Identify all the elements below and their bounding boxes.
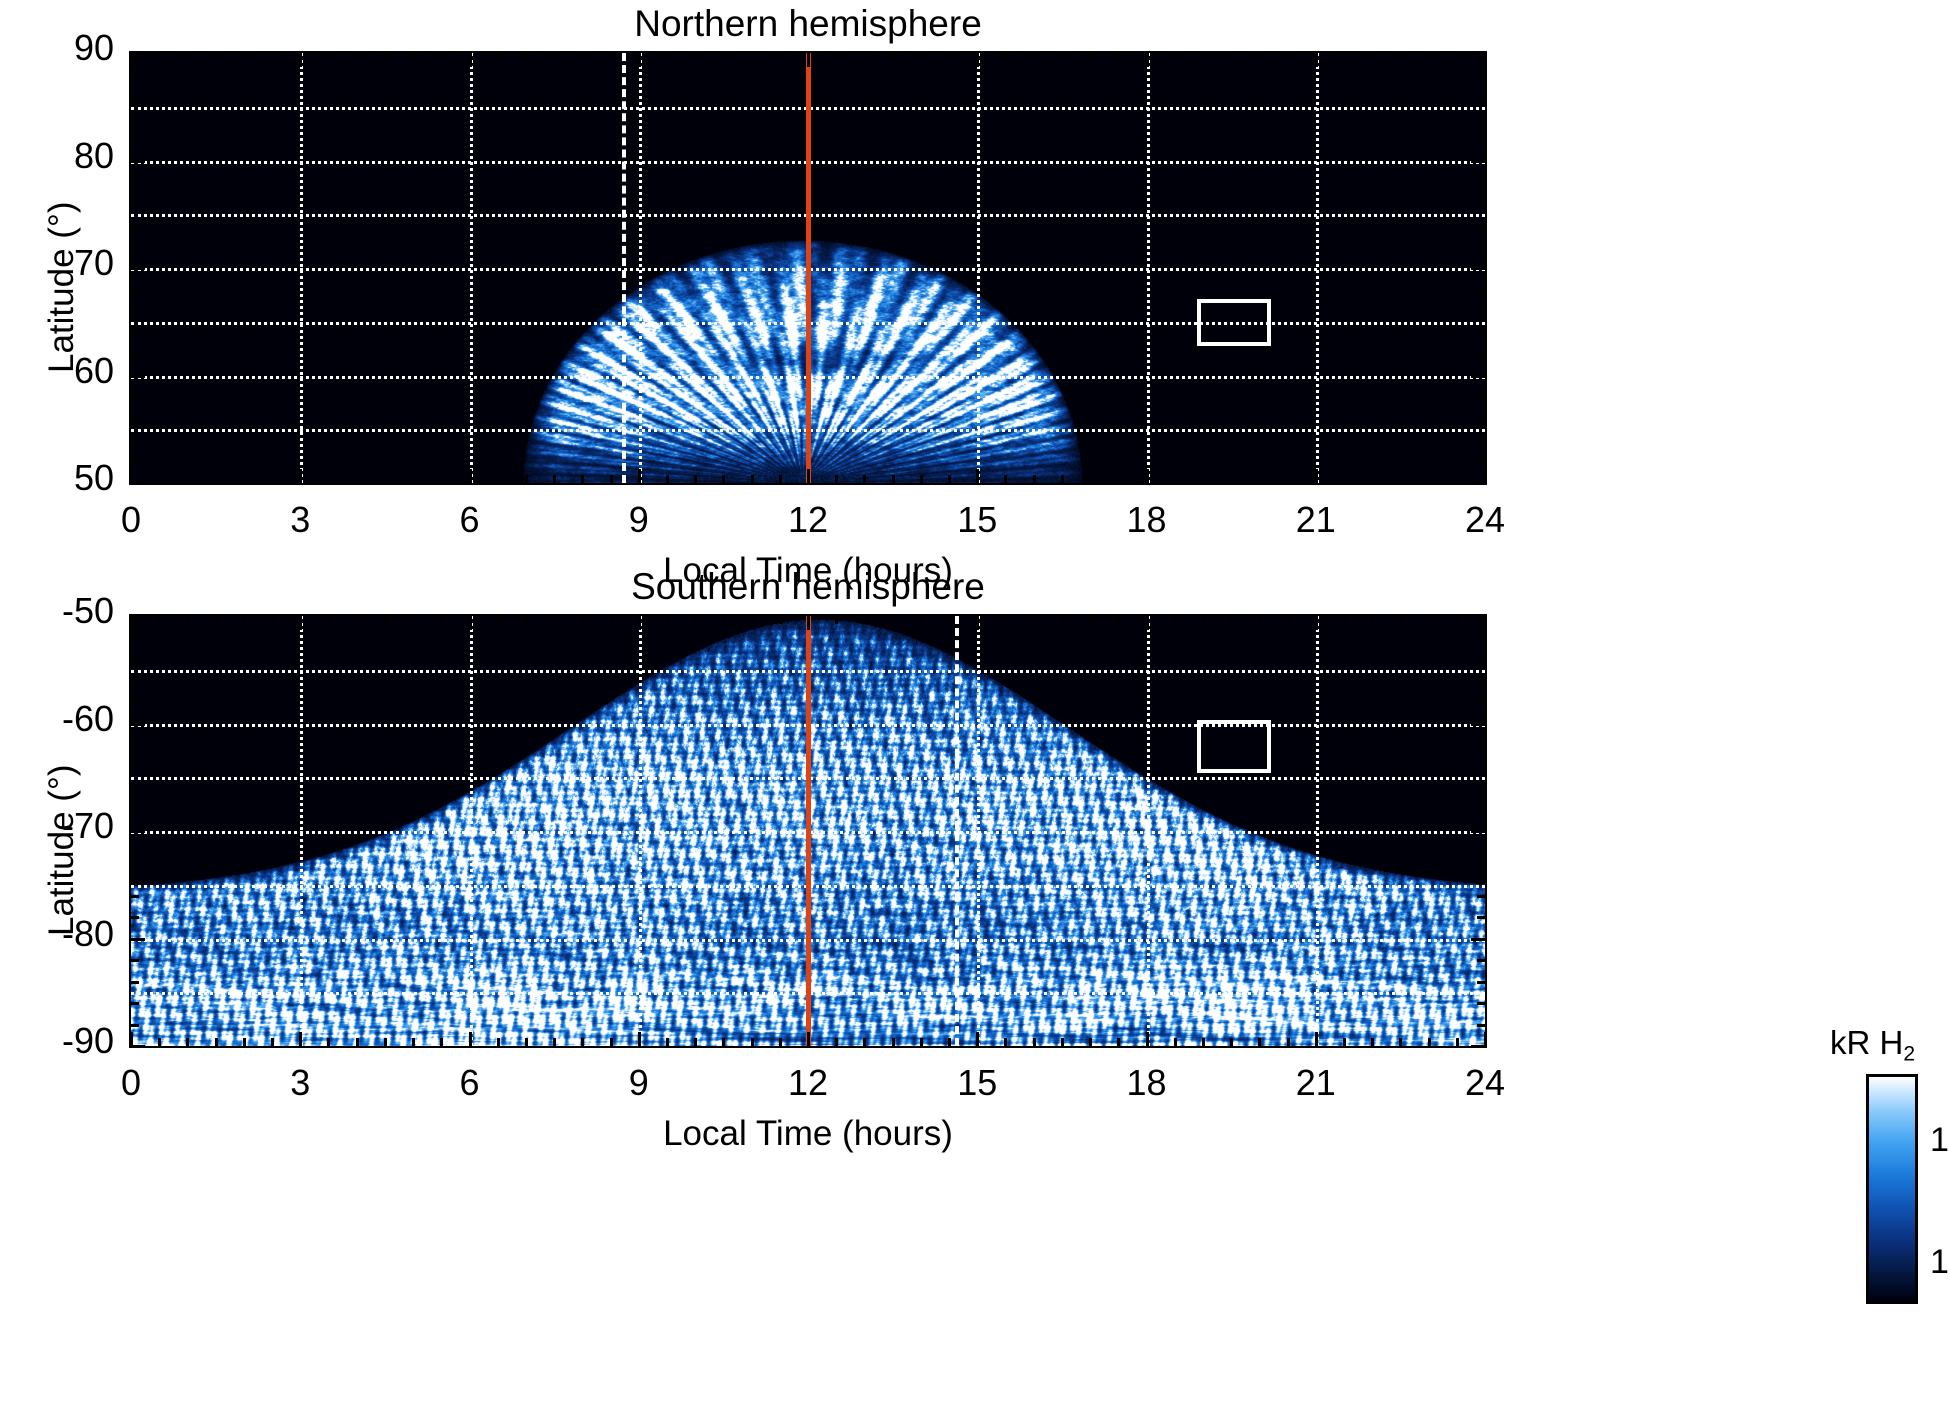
x-tick-label-north-6: 6 [410, 499, 530, 541]
y-axis-label-southern: Latitude (°) [42, 764, 82, 936]
x-minor-tick-south [863, 616, 866, 624]
x-minor-tick-south [186, 616, 189, 624]
y-minor-tick-south [1477, 658, 1485, 661]
x-minor-tick-south [1202, 1038, 1205, 1046]
y-minor-tick-south [1477, 766, 1485, 769]
y-minor-tick-north [131, 181, 139, 184]
x-minor-tick-south [779, 616, 782, 624]
x-minor-tick-north [1230, 53, 1233, 61]
x-minor-tick-south [1117, 616, 1120, 624]
colorbar-tick-label-1: 1 [1930, 1243, 1949, 1282]
y-minor-tick-north [1477, 138, 1485, 141]
x-minor-tick-north [243, 53, 246, 61]
x-minor-tick-south [1456, 616, 1459, 624]
x-minor-tick-south [356, 616, 359, 624]
x-tick-label-south-0: 0 [71, 1062, 191, 1104]
x-tick-label-north-12: 12 [748, 499, 868, 541]
y-minor-tick-south [1477, 744, 1485, 747]
y-minor-tick-north [131, 461, 139, 464]
x-minor-tick-south [1202, 616, 1205, 624]
x-minor-tick-south [722, 616, 725, 624]
x-tick-north-15 [976, 53, 979, 67]
y-minor-tick-north [131, 289, 139, 292]
x-tick-south-24 [1484, 616, 1487, 630]
x-minor-tick-south [1033, 616, 1036, 624]
x-minor-tick-north [440, 53, 443, 61]
x-minor-tick-north [1061, 475, 1064, 483]
x-minor-tick-north [610, 475, 613, 483]
x-minor-tick-south [666, 616, 669, 624]
x-tick-south-21 [1315, 1032, 1318, 1046]
y-minor-tick-south [1477, 787, 1485, 790]
x-minor-tick-north [553, 53, 556, 61]
y-minor-tick-south [131, 981, 139, 984]
x-tick-label-south-12: 12 [748, 1062, 868, 1104]
x-minor-tick-south [440, 616, 443, 624]
y-tick-label-south--50: -50 [0, 590, 114, 632]
x-minor-tick-south [1287, 616, 1290, 624]
x-minor-tick-north [1174, 53, 1177, 61]
y-tick-south--80 [1471, 938, 1485, 941]
x-tick-label-north-18: 18 [1087, 499, 1207, 541]
x-minor-tick-south [581, 616, 584, 624]
y-tick-north-80 [1471, 160, 1485, 163]
y-minor-tick-south [131, 959, 139, 962]
y-minor-tick-south [1477, 895, 1485, 898]
x-minor-tick-north [356, 475, 359, 483]
y-tick-label-north-80: 80 [0, 135, 114, 177]
x-minor-tick-north [751, 475, 754, 483]
y-minor-tick-south [1477, 1024, 1485, 1027]
x-minor-tick-south [1004, 616, 1007, 624]
x-minor-tick-south [1258, 1038, 1261, 1046]
x-tick-label-north-3: 3 [240, 499, 360, 541]
x-minor-tick-south [835, 1038, 838, 1046]
y-tick-north-70 [131, 267, 145, 270]
x-minor-tick-north [525, 53, 528, 61]
y-minor-tick-south [1477, 680, 1485, 683]
x-tick-north-12 [807, 469, 810, 483]
x-minor-tick-south [1089, 1038, 1092, 1046]
y-tick-south--70 [1471, 830, 1485, 833]
x-minor-tick-north [497, 475, 500, 483]
x-minor-tick-north [835, 53, 838, 61]
y-minor-tick-south [1477, 959, 1485, 962]
x-minor-tick-north [1061, 53, 1064, 61]
x-tick-south-21 [1315, 616, 1318, 630]
x-tick-south-24 [1484, 1032, 1487, 1046]
x-minor-tick-north [694, 475, 697, 483]
x-tick-label-north-21: 21 [1256, 499, 1376, 541]
terminator-line-north [622, 53, 626, 483]
x-minor-tick-south [327, 616, 330, 624]
x-minor-tick-north [243, 475, 246, 483]
y-tick-label-north-90: 90 [0, 27, 114, 69]
x-tick-label-south-15: 15 [917, 1062, 1037, 1104]
x-minor-tick-north [1456, 53, 1459, 61]
x-minor-tick-north [1033, 475, 1036, 483]
colorbar-title-subscript: 2 [1903, 1042, 1915, 1065]
x-tick-label-north-15: 15 [917, 499, 1037, 541]
x-minor-tick-north [1399, 53, 1402, 61]
x-tick-south-6 [469, 1032, 472, 1046]
x-minor-tick-south [751, 616, 754, 624]
x-tick-south-3 [299, 616, 302, 630]
x-minor-tick-south [835, 616, 838, 624]
x-tick-south-0 [130, 1032, 133, 1046]
x-minor-tick-south [356, 1038, 359, 1046]
y-minor-tick-north [131, 418, 139, 421]
x-minor-tick-south [440, 1038, 443, 1046]
terminator-line-south [955, 616, 959, 1046]
x-minor-tick-south [581, 1038, 584, 1046]
figure-root: Northern hemisphere 03691215182124 50607… [0, 0, 1950, 1423]
x-tick-label-south-18: 18 [1087, 1062, 1207, 1104]
y-tick-label-south--60: -60 [0, 698, 114, 740]
x-tick-south-15 [976, 616, 979, 630]
x-minor-tick-north [440, 475, 443, 483]
panel-title-northern: Northern hemisphere [131, 3, 1485, 45]
x-minor-tick-north [779, 475, 782, 483]
x-minor-tick-north [1371, 475, 1374, 483]
x-minor-tick-south [497, 616, 500, 624]
x-minor-tick-north [1428, 53, 1431, 61]
y-minor-tick-north [131, 353, 139, 356]
x-tick-north-6 [469, 469, 472, 483]
x-minor-tick-south [1371, 1038, 1374, 1046]
x-minor-tick-north [1004, 475, 1007, 483]
y-minor-tick-north [131, 74, 139, 77]
y-minor-tick-south [1477, 1002, 1485, 1005]
x-minor-tick-north [158, 53, 161, 61]
y-tick-south--80 [131, 938, 145, 941]
x-minor-tick-south [525, 1038, 528, 1046]
y-tick-south--50 [131, 615, 145, 618]
y-tick-label-south--90: -90 [0, 1020, 114, 1062]
x-tick-north-24 [1484, 53, 1487, 67]
y-minor-tick-south [131, 895, 139, 898]
y-minor-tick-north [131, 224, 139, 227]
x-minor-tick-north [1089, 475, 1092, 483]
x-tick-south-15 [976, 1032, 979, 1046]
x-minor-tick-south [694, 1038, 697, 1046]
x-minor-tick-north [835, 475, 838, 483]
y-minor-tick-south [1477, 852, 1485, 855]
y-tick-north-70 [1471, 267, 1485, 270]
x-minor-tick-north [581, 475, 584, 483]
y-minor-tick-south [131, 1002, 139, 1005]
x-minor-tick-north [863, 53, 866, 61]
x-minor-tick-north [948, 53, 951, 61]
y-minor-tick-north [1477, 353, 1485, 356]
x-minor-tick-north [1287, 53, 1290, 61]
x-minor-tick-south [1230, 616, 1233, 624]
y-minor-tick-north [131, 246, 139, 249]
x-minor-tick-north [1202, 53, 1205, 61]
y-minor-tick-north [131, 203, 139, 206]
x-tick-south-18 [1146, 1032, 1149, 1046]
x-minor-tick-south [694, 616, 697, 624]
x-minor-tick-north [271, 53, 274, 61]
roi-box-north [1197, 299, 1270, 346]
x-minor-tick-north [1089, 53, 1092, 61]
y-minor-tick-south [1477, 873, 1485, 876]
y-minor-tick-south [131, 637, 139, 640]
x-minor-tick-north [1258, 475, 1261, 483]
x-axis-label-southern: Local Time (hours) [131, 1114, 1485, 1154]
colorbar-title: kR H2 [1830, 1024, 1915, 1066]
y-tick-north-50 [131, 482, 145, 485]
x-minor-tick-south [1089, 616, 1092, 624]
x-minor-tick-north [722, 53, 725, 61]
y-minor-tick-south [131, 658, 139, 661]
x-minor-tick-north [327, 53, 330, 61]
x-tick-north-9 [638, 53, 641, 67]
y-minor-tick-south [1477, 916, 1485, 919]
y-minor-tick-north [131, 138, 139, 141]
x-minor-tick-south [610, 616, 613, 624]
x-minor-tick-south [412, 1038, 415, 1046]
x-minor-tick-north [384, 53, 387, 61]
y-minor-tick-north [1477, 224, 1485, 227]
y-minor-tick-south [131, 680, 139, 683]
x-minor-tick-north [1371, 53, 1374, 61]
x-minor-tick-south [1343, 1038, 1346, 1046]
x-tick-north-0 [130, 53, 133, 67]
x-tick-label-south-6: 6 [410, 1062, 530, 1104]
panel-title-southern: Southern hemisphere [131, 566, 1485, 608]
x-tick-label-south-21: 21 [1256, 1062, 1376, 1104]
x-minor-tick-north [1343, 475, 1346, 483]
y-minor-tick-north [1477, 74, 1485, 77]
y-minor-tick-north [1477, 203, 1485, 206]
y-minor-tick-south [131, 852, 139, 855]
x-minor-tick-south [384, 616, 387, 624]
x-tick-south-18 [1146, 616, 1149, 630]
x-minor-tick-south [1033, 1038, 1036, 1046]
x-minor-tick-north [186, 475, 189, 483]
x-minor-tick-north [1174, 475, 1177, 483]
y-minor-tick-south [131, 766, 139, 769]
x-tick-north-21 [1315, 53, 1318, 67]
x-minor-tick-south [863, 1038, 866, 1046]
y-tick-north-50 [1471, 482, 1485, 485]
x-minor-tick-south [215, 1038, 218, 1046]
x-minor-tick-north [215, 475, 218, 483]
x-minor-tick-north [1343, 53, 1346, 61]
y-tick-north-60 [131, 375, 145, 378]
x-minor-tick-south [1287, 1038, 1290, 1046]
x-minor-tick-north [1004, 53, 1007, 61]
x-minor-tick-north [525, 475, 528, 483]
x-minor-tick-north [610, 53, 613, 61]
x-minor-tick-north [1117, 53, 1120, 61]
x-minor-tick-south [553, 616, 556, 624]
x-minor-tick-north [1117, 475, 1120, 483]
x-minor-tick-north [1033, 53, 1036, 61]
x-tick-north-0 [130, 469, 133, 483]
y-minor-tick-north [1477, 396, 1485, 399]
x-minor-tick-north [186, 53, 189, 61]
x-minor-tick-south [1174, 1038, 1177, 1046]
y-minor-tick-north [131, 310, 139, 313]
x-tick-label-north-9: 9 [579, 499, 699, 541]
y-minor-tick-north [131, 439, 139, 442]
y-tick-label-north-50: 50 [0, 457, 114, 499]
x-tick-north-15 [976, 469, 979, 483]
y-minor-tick-north [1477, 461, 1485, 464]
x-minor-tick-south [666, 1038, 669, 1046]
x-minor-tick-south [327, 1038, 330, 1046]
x-minor-tick-south [1428, 1038, 1431, 1046]
x-minor-tick-south [553, 1038, 556, 1046]
x-minor-tick-south [1230, 1038, 1233, 1046]
x-minor-tick-south [892, 616, 895, 624]
x-tick-north-6 [469, 53, 472, 67]
noon-meridian-line-south [806, 616, 811, 1046]
x-minor-tick-north [920, 475, 923, 483]
x-minor-tick-north [327, 475, 330, 483]
colorbar-title-text: kR H [1830, 1024, 1903, 1061]
noon-meridian-line-north [806, 53, 811, 483]
y-minor-tick-north [1477, 95, 1485, 98]
colorbar-gradient [1866, 1074, 1918, 1304]
x-minor-tick-south [525, 616, 528, 624]
x-tick-north-24 [1484, 469, 1487, 483]
x-minor-tick-south [920, 616, 923, 624]
x-minor-tick-south [1004, 1038, 1007, 1046]
x-minor-tick-north [581, 53, 584, 61]
x-minor-tick-north [666, 53, 669, 61]
x-minor-tick-south [1399, 616, 1402, 624]
y-minor-tick-south [1477, 701, 1485, 704]
y-minor-tick-south [131, 809, 139, 812]
x-minor-tick-north [863, 475, 866, 483]
x-minor-tick-south [158, 616, 161, 624]
x-minor-tick-north [1428, 475, 1431, 483]
plot-area-northern [131, 53, 1485, 483]
x-minor-tick-north [694, 53, 697, 61]
x-minor-tick-south [1117, 1038, 1120, 1046]
x-minor-tick-north [1456, 475, 1459, 483]
x-minor-tick-south [948, 616, 951, 624]
x-minor-tick-south [497, 1038, 500, 1046]
x-minor-tick-north [1202, 475, 1205, 483]
y-minor-tick-north [1477, 181, 1485, 184]
x-tick-south-12 [807, 616, 810, 630]
x-tick-label-north-24: 24 [1425, 499, 1545, 541]
y-minor-tick-south [131, 744, 139, 747]
x-minor-tick-north [158, 475, 161, 483]
x-minor-tick-south [1174, 616, 1177, 624]
x-minor-tick-south [271, 1038, 274, 1046]
x-tick-label-north-0: 0 [71, 499, 191, 541]
x-tick-label-south-9: 9 [579, 1062, 699, 1104]
x-tick-south-0 [130, 616, 133, 630]
x-tick-north-18 [1146, 469, 1149, 483]
x-minor-tick-south [158, 1038, 161, 1046]
x-minor-tick-south [1061, 616, 1064, 624]
x-minor-tick-south [779, 1038, 782, 1046]
plot-area-southern [131, 616, 1485, 1046]
y-minor-tick-south [131, 701, 139, 704]
x-tick-label-south-24: 24 [1425, 1062, 1545, 1104]
x-tick-north-3 [299, 469, 302, 483]
y-tick-south--50 [1471, 615, 1485, 618]
x-minor-tick-north [920, 53, 923, 61]
x-minor-tick-north [722, 475, 725, 483]
x-minor-tick-south [1343, 616, 1346, 624]
y-tick-south--90 [131, 1045, 145, 1048]
y-minor-tick-north [1477, 117, 1485, 120]
y-tick-south--90 [1471, 1045, 1485, 1048]
x-minor-tick-north [553, 475, 556, 483]
x-minor-tick-south [1258, 616, 1261, 624]
x-minor-tick-south [892, 1038, 895, 1046]
x-minor-tick-south [948, 1038, 951, 1046]
x-tick-north-12 [807, 53, 810, 67]
x-minor-tick-south [412, 616, 415, 624]
y-minor-tick-south [131, 787, 139, 790]
y-minor-tick-south [1477, 981, 1485, 984]
x-minor-tick-north [356, 53, 359, 61]
y-minor-tick-south [131, 1024, 139, 1027]
x-minor-tick-north [666, 475, 669, 483]
y-tick-north-60 [1471, 375, 1485, 378]
x-tick-south-9 [638, 616, 641, 630]
x-minor-tick-north [271, 475, 274, 483]
x-minor-tick-south [271, 616, 274, 624]
x-minor-tick-south [215, 616, 218, 624]
x-tick-south-3 [299, 1032, 302, 1046]
x-tick-label-south-3: 3 [240, 1062, 360, 1104]
x-minor-tick-south [1061, 1038, 1064, 1046]
y-minor-tick-south [131, 873, 139, 876]
x-minor-tick-south [1456, 1038, 1459, 1046]
x-minor-tick-north [412, 475, 415, 483]
y-axis-label-northern: Latitude (°) [42, 201, 82, 373]
x-tick-south-6 [469, 616, 472, 630]
x-minor-tick-south [920, 1038, 923, 1046]
x-minor-tick-south [1428, 616, 1431, 624]
y-minor-tick-north [1477, 289, 1485, 292]
y-minor-tick-north [1477, 439, 1485, 442]
y-minor-tick-south [131, 916, 139, 919]
y-minor-tick-south [1477, 637, 1485, 640]
x-minor-tick-north [412, 53, 415, 61]
x-minor-tick-north [751, 53, 754, 61]
y-minor-tick-north [1477, 418, 1485, 421]
y-minor-tick-north [131, 95, 139, 98]
x-tick-north-18 [1146, 53, 1149, 67]
x-minor-tick-south [243, 1038, 246, 1046]
y-minor-tick-south [1477, 809, 1485, 812]
x-minor-tick-north [892, 475, 895, 483]
x-tick-south-9 [638, 1032, 641, 1046]
y-minor-tick-north [1477, 246, 1485, 249]
x-minor-tick-north [948, 475, 951, 483]
x-minor-tick-north [215, 53, 218, 61]
x-tick-north-3 [299, 53, 302, 67]
x-minor-tick-south [243, 616, 246, 624]
y-tick-north-90 [131, 52, 145, 55]
x-tick-north-9 [638, 469, 641, 483]
x-minor-tick-south [1371, 616, 1374, 624]
x-minor-tick-south [384, 1038, 387, 1046]
y-tick-south--70 [131, 830, 145, 833]
x-minor-tick-north [384, 475, 387, 483]
y-tick-south--60 [1471, 723, 1485, 726]
